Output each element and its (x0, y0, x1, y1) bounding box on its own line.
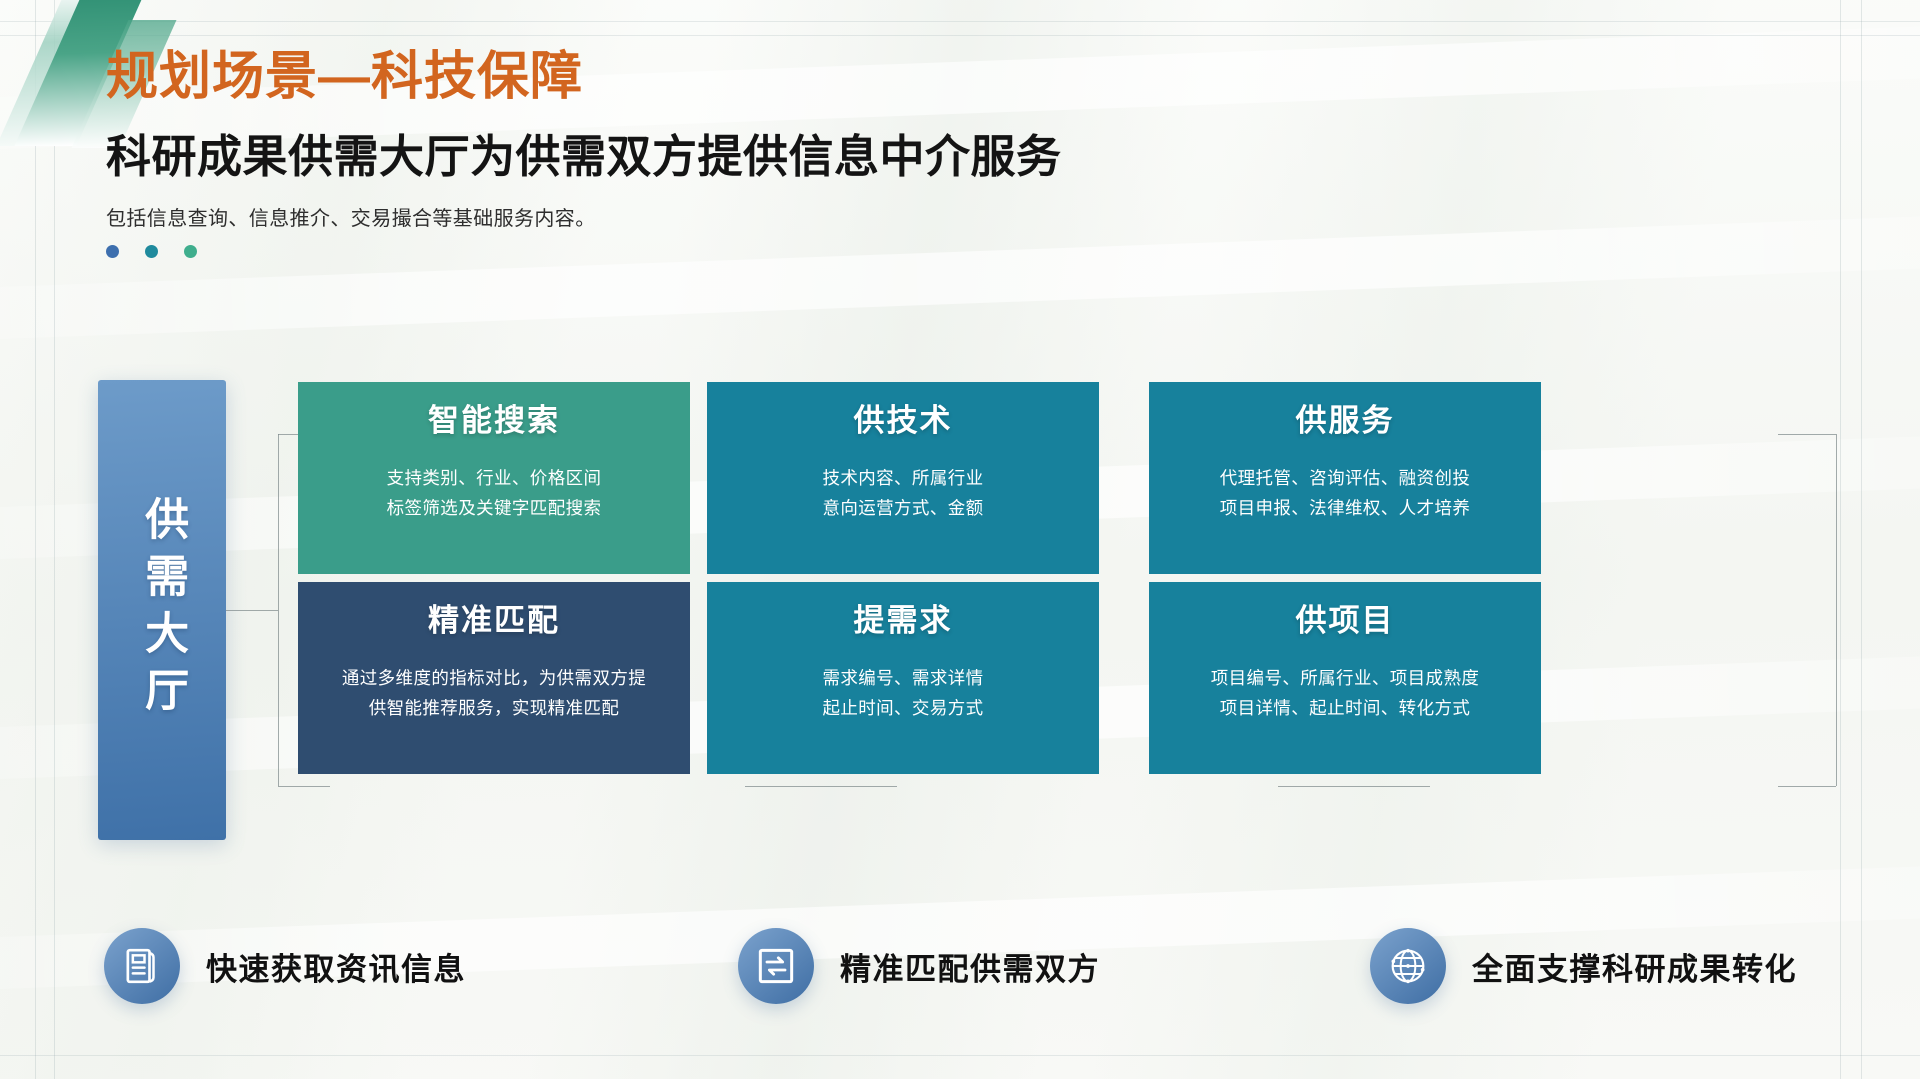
page-title: 科研成果供需大厅为供需双方提供信息中介服务 (106, 130, 1062, 184)
card-body: 需求编号、需求详情起止时间、交易方式 (707, 663, 1099, 724)
document-icon (122, 946, 162, 986)
connector-col2-right-top (1778, 434, 1836, 435)
dot-teal (145, 245, 158, 258)
card-supply-service[interactable]: 供服务代理托管、咨询评估、融资创投项目申报、法律维权、人才培养 (1149, 382, 1541, 574)
card-body-line: 通过多维度的指标对比，为供需双方提 (298, 663, 690, 694)
exchange-icon (756, 946, 796, 986)
background-gridline (0, 21, 1920, 22)
connector-col0-col1-bottom (745, 786, 897, 787)
card-title: 供项目 (1149, 602, 1541, 641)
card-body-line: 起止时间、交易方式 (707, 693, 1099, 724)
highlight-label: 快速获取资讯信息 (206, 944, 466, 989)
card-smart-search[interactable]: 智能搜索支持类别、行业、价格区间标签筛选及关键字匹配搜索 (298, 382, 690, 574)
card-body: 项目编号、所属行业、项目成熟度项目详情、起止时间、转化方式 (1149, 663, 1541, 724)
card-raise-demand[interactable]: 提需求需求编号、需求详情起止时间、交易方式 (707, 582, 1099, 774)
connector-col0-spine (278, 434, 279, 786)
card-title: 供服务 (1149, 402, 1541, 441)
card-body-line: 代理托管、咨询评估、融资创投 (1149, 463, 1541, 494)
accent-dots (106, 245, 1062, 258)
globe-icon-container (1370, 928, 1446, 1004)
card-title: 供技术 (707, 402, 1099, 441)
highlight-label: 全面支撑科研成果转化 (1472, 944, 1797, 989)
connector-right-spine (1836, 434, 1837, 786)
supply-demand-diagram: 供需大厅 智能搜索支持类别、行业、价格区间标签筛选及关键字匹配搜索供技术技术内容… (0, 368, 1920, 848)
card-title: 智能搜索 (298, 402, 690, 441)
card-supply-technology[interactable]: 供技术技术内容、所属行业意向运营方式、金额 (707, 382, 1099, 574)
dot-green (184, 245, 197, 258)
card-body-line: 项目编号、所属行业、项目成熟度 (1149, 663, 1541, 694)
highlight-fast-info[interactable]: 快速获取资讯信息 (104, 928, 466, 1004)
connector-col1-col2-bottom (1278, 786, 1430, 787)
connector-col2-right-bottom (1778, 786, 1836, 787)
globe-icon (1388, 946, 1428, 986)
card-body-line: 项目详情、起止时间、转化方式 (1149, 693, 1541, 724)
card-body: 代理托管、咨询评估、融资创投项目申报、法律维权、人才培养 (1149, 463, 1541, 524)
card-body-line: 技术内容、所属行业 (707, 463, 1099, 494)
card-body-line: 需求编号、需求详情 (707, 663, 1099, 694)
card-title: 提需求 (707, 602, 1099, 641)
card-body: 支持类别、行业、价格区间标签筛选及关键字匹配搜索 (298, 463, 690, 524)
highlight-label: 精准匹配供需双方 (840, 944, 1100, 989)
connector-col0-bottom (278, 786, 330, 787)
card-body-line: 标签筛选及关键字匹配搜索 (298, 493, 690, 524)
background-gridline (0, 35, 1920, 36)
card-body-line: 供智能推荐服务，实现精准匹配 (298, 693, 690, 724)
card-title: 精准匹配 (298, 602, 690, 641)
card-body: 技术内容、所属行业意向运营方式、金额 (707, 463, 1099, 524)
highlight-full-support[interactable]: 全面支撑科研成果转化 (1370, 928, 1797, 1004)
card-body: 通过多维度的指标对比，为供需双方提供智能推荐服务，实现精准匹配 (298, 663, 690, 724)
card-body-line: 意向运营方式、金额 (707, 493, 1099, 524)
page-subtitle: 包括信息查询、信息推介、交易撮合等基础服务内容。 (106, 202, 1062, 231)
highlight-precise-match[interactable]: 精准匹配供需双方 (738, 928, 1100, 1004)
dot-blue (106, 245, 119, 258)
background-gridline (0, 1055, 1920, 1056)
card-body-line: 支持类别、行业、价格区间 (298, 463, 690, 494)
hub-supply-demand-hall[interactable]: 供需大厅 (98, 380, 226, 840)
connector-hub-stem (226, 610, 278, 611)
card-supply-project[interactable]: 供项目项目编号、所属行业、项目成熟度项目详情、起止时间、转化方式 (1149, 582, 1541, 774)
hub-label: 供需大厅 (137, 496, 187, 724)
footer-highlights: 快速获取资讯信息精准匹配供需双方全面支撑科研成果转化 (0, 900, 1920, 1040)
document-icon-container (104, 928, 180, 1004)
page-header: 规划场景—科技保障 科研成果供需大厅为供需双方提供信息中介服务 包括信息查询、信… (106, 48, 1062, 258)
card-precise-matching[interactable]: 精准匹配通过多维度的指标对比，为供需双方提供智能推荐服务，实现精准匹配 (298, 582, 690, 774)
exchange-icon-container (738, 928, 814, 1004)
kicker-title: 规划场景—科技保障 (106, 48, 1062, 106)
card-body-line: 项目申报、法律维权、人才培养 (1149, 493, 1541, 524)
